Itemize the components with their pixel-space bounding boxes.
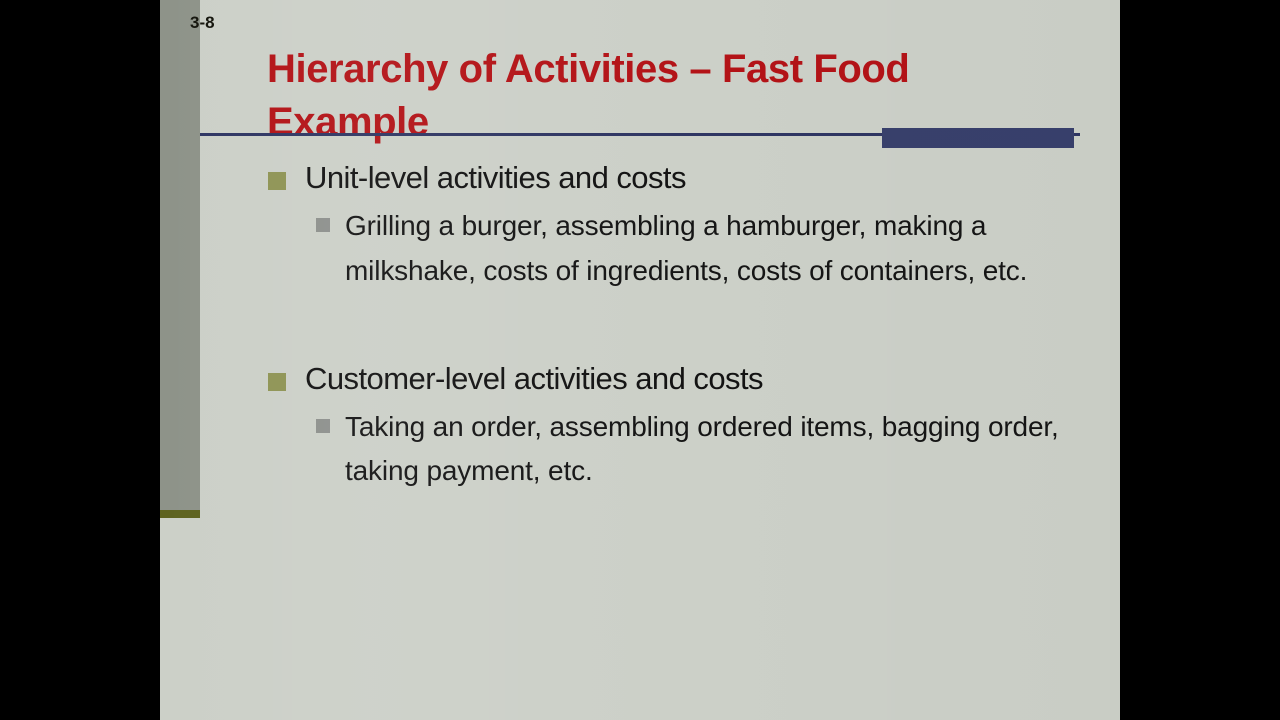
presentation-stage: 3-8 Hierarchy of Activities – Fast Food …	[0, 0, 1280, 720]
bullet-level1-item: Customer-level activities and costs	[160, 359, 1120, 399]
bullet-level2-item: Grilling a burger, assembling a hamburge…	[160, 204, 1120, 292]
bullet-level2-label: Taking an order, assembling ordered item…	[345, 405, 1065, 493]
slide-left-accent-band-cap	[160, 510, 200, 518]
bullet-level1-item: Unit-level activities and costs	[160, 158, 1120, 198]
slide-canvas: 3-8 Hierarchy of Activities – Fast Food …	[160, 0, 1120, 720]
bullet-level2-label: Grilling a burger, assembling a hamburge…	[345, 204, 1065, 292]
gray-square-bullet-icon	[316, 419, 330, 433]
olive-square-bullet-icon	[268, 373, 286, 391]
section-spacer	[160, 293, 1120, 359]
slide-body: Unit-level activities and costs Grilling…	[160, 158, 1120, 494]
olive-square-bullet-icon	[268, 172, 286, 190]
bullet-level2-item: Taking an order, assembling ordered item…	[160, 405, 1120, 493]
bullet-level1-label: Customer-level activities and costs	[305, 359, 1120, 399]
gray-square-bullet-icon	[316, 218, 330, 232]
title-divider-blue-tab	[882, 128, 1074, 148]
slide-number: 3-8	[190, 13, 215, 33]
bullet-level1-label: Unit-level activities and costs	[305, 158, 1120, 198]
